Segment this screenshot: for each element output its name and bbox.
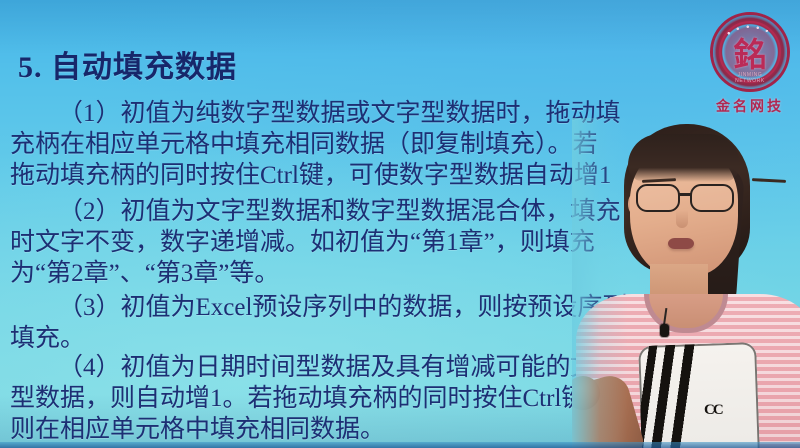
- presenter-right-eyebrow: [752, 178, 786, 183]
- paragraph-1: （1）初值为纯数字型数据或文字型数据时，拖动填 充柄在相应单元格中填充相同数据（…: [10, 98, 670, 191]
- shirt-logo-mark: CC: [704, 402, 730, 424]
- paragraph-4: （4）初值为日期时间型数据及具有增减可能的文字 型数据，则自动增1。若拖动填充柄…: [10, 352, 670, 445]
- presenter-mouth: [668, 238, 694, 249]
- paragraph-1-line-3: 拖动填充柄的同时按住Ctrl键，可使数字型数据自动增1: [10, 160, 670, 191]
- paragraph-2-line-3: 为“第2章”、“第3章”等。: [10, 258, 670, 289]
- channel-logo: 銘 JINMING NETWORK TECHNOLOGY 金名网技: [706, 12, 794, 116]
- bottom-edge-bar: [0, 442, 800, 448]
- page-title: 5. 自动填充数据: [18, 42, 237, 86]
- shirt-graphic-print: [638, 342, 760, 448]
- lecture-slide: 5. 自动填充数据 （1）初值为纯数字型数据或文字型数据时，拖动填 充柄在相应单…: [0, 0, 800, 448]
- presenter-figure: CC: [572, 118, 800, 448]
- paragraph-3-line-1: （3）初值为Excel预设序列中的数据，则按预设序列: [10, 292, 670, 323]
- paragraph-1-line-2: 充柄在相应单元格中填充相同数据（即复制填充）。若: [10, 129, 670, 160]
- paragraph-2-line-1: （2）初值为文字型数据和数字型数据混合体，填充: [10, 196, 670, 227]
- paragraph-3-line-2: 填充。: [10, 323, 670, 354]
- paragraph-4-line-1: （4）初值为日期时间型数据及具有增减可能的文字: [10, 352, 670, 383]
- seal-arc-text: JINMING NETWORK TECHNOLOGY: [723, 72, 777, 82]
- paragraph-4-line-2: 型数据，则自动增1。若拖动填充柄的同时按住Ctrl键，: [10, 383, 670, 414]
- glasses-left-lens: [636, 184, 680, 212]
- glasses-bridge: [678, 193, 692, 196]
- paragraph-2: （2）初值为文字型数据和数字型数据混合体，填充 时文字不变，数字递增减。如初值为…: [10, 196, 670, 289]
- paragraph-3: （3）初值为Excel预设序列中的数据，则按预设序列 填充。: [10, 292, 670, 354]
- presenter-fringe: [628, 134, 740, 182]
- presenter-nose: [676, 210, 688, 228]
- clip-microphone-icon: [660, 324, 669, 337]
- seal-icon: 銘 JINMING NETWORK TECHNOLOGY: [710, 12, 790, 92]
- glasses-right-lens: [690, 184, 734, 212]
- paragraph-1-line-1: （1）初值为纯数字型数据或文字型数据时，拖动填: [10, 98, 670, 129]
- brand-name: 金名网技: [706, 96, 794, 116]
- paragraph-2-line-2: 时文字不变，数字递增减。如初值为“第1章”，则填充: [10, 227, 670, 258]
- paragraph-4-line-3: 则在相应单元格中填充相同数据。: [10, 414, 670, 445]
- glasses-icon: [634, 184, 738, 208]
